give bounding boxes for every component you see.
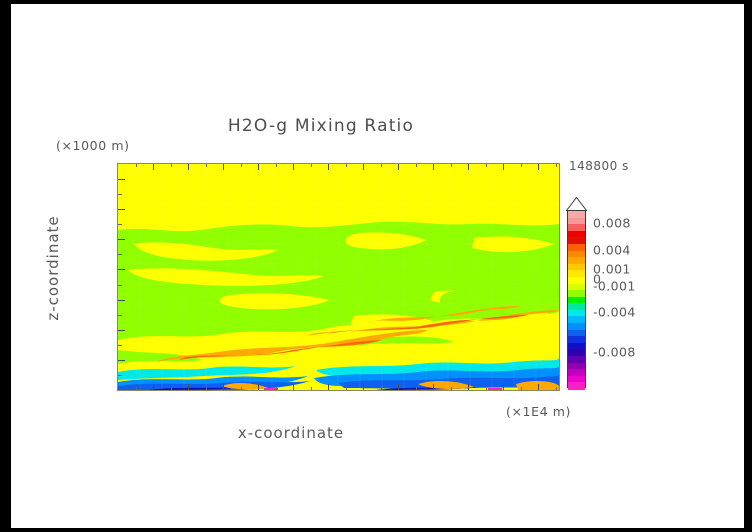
x-tick-mark [503, 384, 504, 390]
colorbar-tick-label: -0.004 [593, 305, 636, 320]
y-minor-tick [118, 194, 122, 195]
x-minor-tick [451, 387, 452, 390]
colorbar-tick-label: -0.008 [593, 344, 636, 359]
colorbar-swatches [567, 210, 586, 388]
x-axis-title: x-coordinate [11, 424, 571, 442]
y-minor-tick [118, 254, 122, 255]
x-tick-mark [328, 164, 329, 170]
x-minor-tick [241, 164, 242, 167]
colorbar[interactable]: 0.0080.0040.0010-0.001-0.004-0.008 [567, 210, 586, 388]
contour-plot-area[interactable]: 481216202428123456789101112 [117, 163, 560, 391]
y-tick-mark [118, 209, 125, 210]
x-minor-tick [486, 387, 487, 390]
contour-field [118, 164, 559, 390]
timestamp-label: 148800 s [569, 159, 629, 173]
y-axis-title: z-coordinate [44, 198, 62, 338]
y-tick-mark [118, 360, 125, 361]
x-tick-mark [223, 164, 224, 170]
x-minor-tick [451, 164, 452, 167]
y-tick-mark [118, 330, 125, 331]
y-minor-tick [118, 224, 122, 225]
y-axis-unit-label: (×1000 m) [56, 138, 130, 153]
y-tick-mark [118, 179, 125, 180]
x-tick-mark [468, 384, 469, 390]
x-tick-mark [328, 384, 329, 390]
y-minor-tick [118, 375, 122, 376]
x-minor-tick [136, 164, 137, 167]
x-minor-tick [521, 387, 522, 390]
x-minor-tick [556, 387, 557, 390]
y-tick-mark [118, 269, 125, 270]
x-tick-mark [188, 164, 189, 170]
y-tick-mark [118, 239, 125, 240]
x-minor-tick [206, 387, 207, 390]
figure-canvas: H2O-g Mixing Ratio (×1000 m) 148800 s [11, 4, 744, 528]
x-minor-tick [521, 164, 522, 167]
x-minor-tick [486, 164, 487, 167]
x-minor-tick [381, 387, 382, 390]
x-tick-mark [433, 384, 434, 390]
x-minor-tick [171, 387, 172, 390]
y-minor-tick [118, 285, 122, 286]
x-tick-mark [293, 384, 294, 390]
x-minor-tick [381, 164, 382, 167]
figure-root: H2O-g Mixing Ratio (×1000 m) 148800 s [0, 0, 752, 532]
x-tick-mark [433, 164, 434, 170]
chart-title: H2O-g Mixing Ratio [11, 116, 631, 136]
x-minor-tick [276, 164, 277, 167]
x-minor-tick [311, 387, 312, 390]
x-minor-tick [206, 164, 207, 167]
x-tick-mark [538, 164, 539, 170]
colorbar-tick-label: -0.001 [593, 279, 636, 294]
x-tick-mark [188, 384, 189, 390]
x-tick-mark [538, 384, 539, 390]
y-tick-mark [118, 300, 125, 301]
x-minor-tick [416, 164, 417, 167]
x-tick-mark [258, 164, 259, 170]
x-tick-mark [398, 384, 399, 390]
colorbar-tick-label: 0.008 [593, 216, 631, 231]
x-minor-tick [346, 164, 347, 167]
x-minor-tick [416, 387, 417, 390]
x-axis-unit-label: (×1E4 m) [506, 404, 571, 419]
x-minor-tick [136, 387, 137, 390]
x-tick-mark [293, 164, 294, 170]
x-minor-tick [311, 164, 312, 167]
x-minor-tick [241, 387, 242, 390]
x-minor-tick [171, 164, 172, 167]
x-minor-tick [556, 164, 557, 167]
y-minor-tick [118, 345, 122, 346]
colorbar-top-arrow-icon [566, 196, 587, 210]
x-tick-mark [363, 164, 364, 170]
x-tick-mark [153, 384, 154, 390]
x-tick-mark [398, 164, 399, 170]
x-tick-mark [223, 384, 224, 390]
colorbar-tick-label: 0.004 [593, 242, 631, 257]
x-minor-tick [276, 387, 277, 390]
x-tick-mark [258, 384, 259, 390]
x-minor-tick [346, 387, 347, 390]
x-tick-mark [468, 164, 469, 170]
y-minor-tick [118, 315, 122, 316]
x-tick-mark [363, 384, 364, 390]
colorbar-band [568, 382, 585, 389]
x-tick-mark [503, 164, 504, 170]
x-tick-mark [153, 164, 154, 170]
